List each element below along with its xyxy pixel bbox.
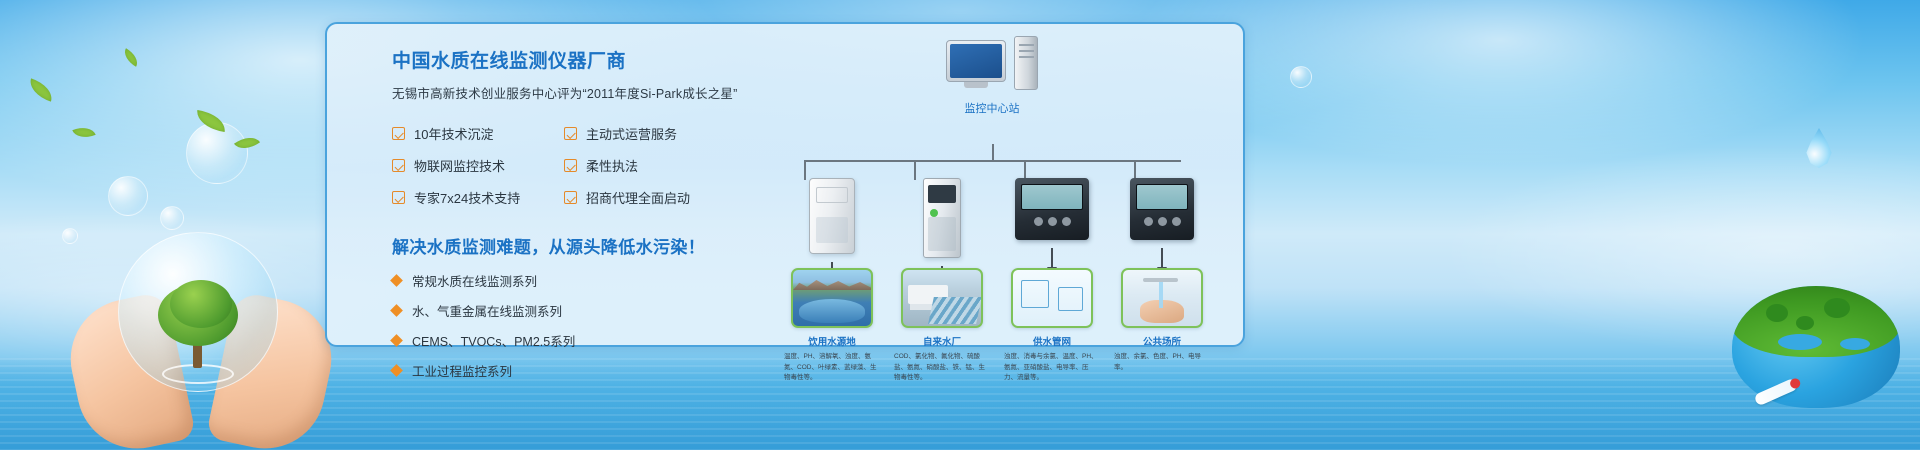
diamond-bullet-icon <box>390 334 403 347</box>
earth-illustration <box>1732 286 1900 408</box>
series-item[interactable]: 水、气重金属在线监测系列 <box>392 301 737 320</box>
scene-card[interactable]: 自来水厂 COD、氯化物、氟化物、硫酸盐、氨氮、硝酸盐、铁、锰、生物毒性等。 <box>887 268 997 384</box>
tap-thumb <box>1121 268 1203 328</box>
hands-holding-tree-illustration <box>66 250 336 450</box>
bubble-decoration <box>62 228 78 244</box>
bubble-decoration <box>1290 66 1312 88</box>
solution-heading: 解决水质监测难题，从源头降低水污染！ <box>392 233 737 258</box>
scene-card[interactable]: 饮用水源地 温度、PH、溶解氧、浊度、氨氮、COD、叶绿素、蓝绿藻、生物毒性等。 <box>777 268 887 384</box>
scene-parameters: 温度、PH、溶解氧、浊度、氨氮、COD、叶绿素、蓝绿藻、生物毒性等。 <box>784 352 880 384</box>
diamond-bullet-icon <box>390 364 403 377</box>
scene-title: 供水管网 <box>1033 334 1071 348</box>
scene-parameters: 浊度、消毒与余氯、温度、PH、氨氮、亚硝酸盐、电导率、压力、流量等。 <box>1004 352 1100 384</box>
feature-label: 专家7x24技术支持 <box>414 188 520 207</box>
feature-label: 物联网监控技术 <box>414 156 505 175</box>
feature-item[interactable]: 柔性执法 <box>564 156 736 175</box>
series-item[interactable]: 工业过程监控系列 <box>392 361 737 380</box>
checkbox-checked-icon <box>564 191 577 204</box>
earth-lake <box>1840 338 1870 350</box>
series-label: 工业过程监控系列 <box>412 361 512 380</box>
feature-label: 主动式运营服务 <box>586 124 677 143</box>
feature-item[interactable]: 专家7x24技术支持 <box>392 188 564 207</box>
checkbox-checked-icon <box>564 127 577 140</box>
banner-card: 中国水质在线监测仪器厂商 无锡市高新技术创业服务中心评为“2011年度Si-Pa… <box>325 22 1245 347</box>
monitor-icon <box>946 40 1006 82</box>
feature-item[interactable]: 招商代理全面启动 <box>564 188 736 207</box>
feature-label: 柔性执法 <box>586 156 638 175</box>
monitor-screen <box>950 44 1002 78</box>
series-label: 常规水质在线监测系列 <box>412 271 537 290</box>
scene-parameters: COD、氯化物、氟化物、硫酸盐、氨氮、硝酸盐、铁、锰、生物毒性等。 <box>894 352 990 384</box>
down-arrow-icon <box>1051 248 1053 268</box>
checkbox-checked-icon <box>392 127 405 140</box>
river-thumb <box>791 268 873 328</box>
computer-workstation-icon <box>946 40 1038 92</box>
page-subtitle: 无锡市高新技术创业服务中心评为“2011年度Si-Park成长之星” <box>392 83 737 102</box>
pipeline-thumb <box>1011 268 1093 328</box>
feature-item[interactable]: 10年技术沉淀 <box>392 124 564 143</box>
page-title: 中国水质在线监测仪器厂商 <box>392 46 737 73</box>
waterworks-thumb <box>901 268 983 328</box>
pc-tower-icon <box>1014 36 1038 90</box>
scene-title: 饮用水源地 <box>808 334 856 348</box>
earth-tree <box>1766 304 1788 322</box>
checkbox-checked-icon <box>564 159 577 172</box>
monitor-stand <box>964 82 988 88</box>
scene-row: 饮用水源地 温度、PH、溶解氧、浊度、氨氮、COD、叶绿素、蓝绿藻、生物毒性等。… <box>777 268 1217 384</box>
feature-label: 10年技术沉淀 <box>414 124 493 143</box>
feature-item[interactable]: 主动式运营服务 <box>564 124 736 143</box>
connector-trunk <box>992 144 994 160</box>
series-label: 水、气重金属在线监测系列 <box>412 301 562 320</box>
earth-tree <box>1796 316 1814 330</box>
series-label: CEMS、TVOCs、PM2.5系列 <box>412 331 575 350</box>
down-arrow-icon <box>1161 248 1163 268</box>
center-node-label: 监控中心站 <box>937 100 1047 116</box>
scene-card[interactable]: 公共场所 浊度、余氯、色度、PH、电导率。 <box>1107 268 1217 384</box>
connector-bus <box>804 160 1181 162</box>
scene-title: 自来水厂 <box>923 334 961 348</box>
feature-label: 招商代理全面启动 <box>586 188 690 207</box>
scene-parameters: 浊度、余氯、色度、PH、电导率。 <box>1114 352 1210 373</box>
bubble-decoration <box>186 122 248 184</box>
tree-crown-top <box>170 280 232 328</box>
hand-silhouette <box>1140 300 1184 322</box>
feature-checklist: 10年技术沉淀 主动式运营服务 物联网监控技术 柔性执法 专家7x24技术支持 … <box>392 124 737 207</box>
checkbox-checked-icon <box>392 191 405 204</box>
monitoring-center-node: 监控中心站 <box>937 40 1047 116</box>
earth-sphere <box>1732 286 1900 408</box>
scene-card[interactable]: 供水管网 浊度、消毒与余氯、温度、PH、氨氮、亚硝酸盐、电导率、压力、流量等。 <box>997 268 1107 384</box>
earth-tree <box>1824 298 1850 318</box>
diamond-bullet-icon <box>390 274 403 287</box>
controller-wide-icon <box>1015 178 1089 240</box>
feature-item[interactable]: 物联网监控技术 <box>392 156 564 175</box>
series-item[interactable]: CEMS、TVOCs、PM2.5系列 <box>392 331 737 350</box>
product-series-list: 常规水质在线监测系列 水、气重金属在线监测系列 CEMS、TVOCs、PM2.5… <box>392 271 737 380</box>
cabinet-analyzer-icon <box>809 178 855 254</box>
checkbox-checked-icon <box>392 159 405 172</box>
bubble-decoration <box>160 206 184 230</box>
earth-lake <box>1778 334 1822 350</box>
controller-narrow-icon <box>1130 178 1194 240</box>
diamond-bullet-icon <box>390 304 403 317</box>
rack-analyzer-icon <box>923 178 961 258</box>
series-item[interactable]: 常规水质在线监测系列 <box>392 271 737 290</box>
left-content-column: 中国水质在线监测仪器厂商 无锡市高新技术创业服务中心评为“2011年度Si-Pa… <box>392 46 737 380</box>
bubble-decoration <box>108 176 148 216</box>
monitoring-topology-diagram: 监控中心站 <box>757 40 1227 340</box>
scene-title: 公共场所 <box>1143 334 1181 348</box>
